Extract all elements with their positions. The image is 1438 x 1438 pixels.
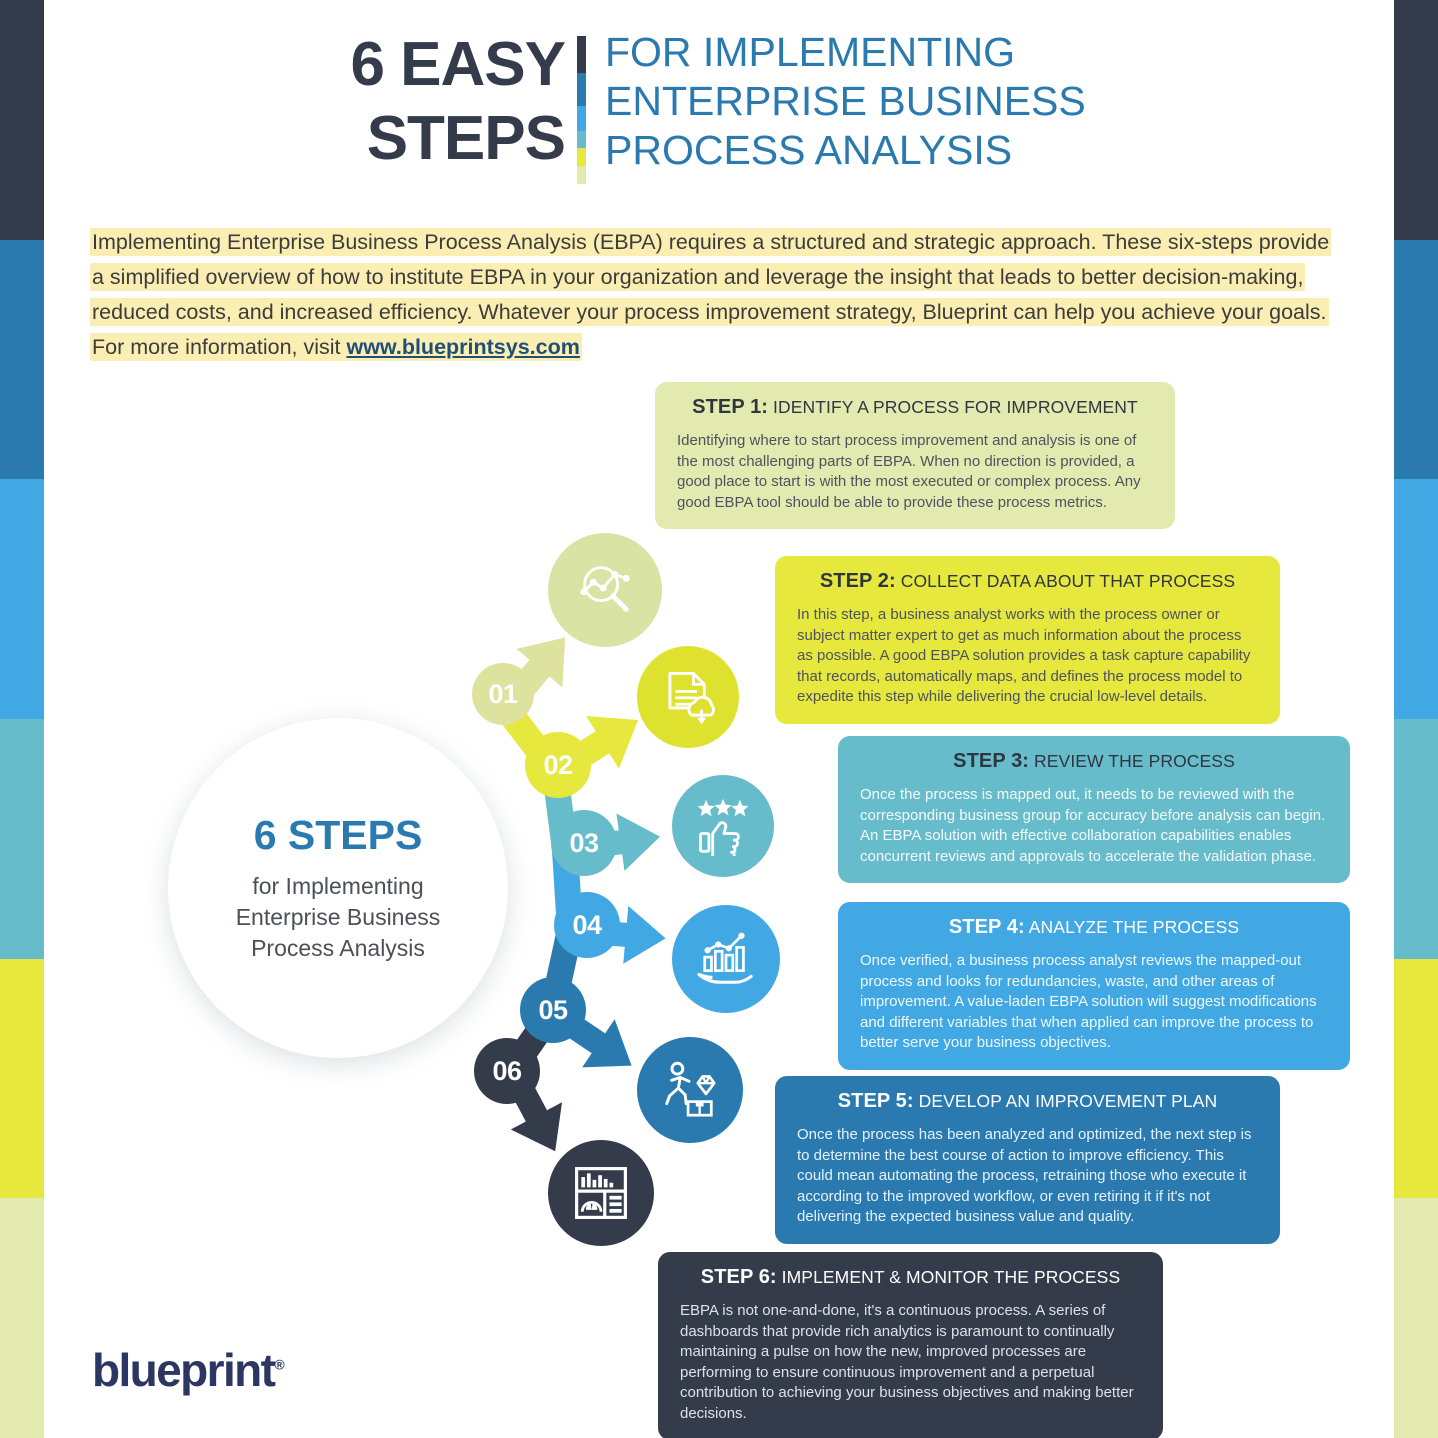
header-title-line1: 6 EASY: [300, 28, 565, 102]
step-card-2-body: In this step, a business analyst works w…: [797, 605, 1258, 708]
step-node-04-label: 04: [572, 910, 601, 941]
step-card-2[interactable]: STEP 2: COLLECT DATA ABOUT THAT PROCESS …: [775, 556, 1280, 724]
step-node-06[interactable]: 06: [474, 1038, 540, 1104]
intro-paragraph: Implementing Enterprise Business Process…: [90, 225, 1345, 365]
band-6: [0, 1198, 44, 1438]
step-card-4-heading: ANALYZE THE PROCESS: [1029, 917, 1239, 937]
page-header: 6 EASY STEPS FOR IMPLEMENTING ENTERPRISE…: [300, 28, 1100, 188]
step-card-5-heading: DEVELOP AN IMPROVEMENT PLAN: [919, 1091, 1218, 1111]
step-card-1[interactable]: STEP 1: IDENTIFY A PROCESS FOR IMPROVEME…: [655, 382, 1175, 529]
hand-chart-growth-icon: [695, 928, 757, 990]
step-card-4-body: Once verified, a business process analys…: [860, 951, 1328, 1054]
band-3: [1394, 479, 1438, 719]
band-4: [0, 719, 44, 959]
step-card-5-label: STEP 5:: [838, 1090, 914, 1112]
intro-text: Implementing Enterprise Business Process…: [92, 230, 1329, 359]
step-card-1-title: STEP 1: IDENTIFY A PROCESS FOR IMPROVEME…: [677, 396, 1153, 419]
hub-headline: 6 STEPS: [254, 812, 423, 859]
step-card-4[interactable]: STEP 4: ANALYZE THE PROCESS Once verifie…: [838, 902, 1350, 1070]
hub-subtitle-line2: Enterprise Business: [236, 902, 441, 933]
right-color-bands: [1394, 0, 1438, 1438]
left-color-bands: [0, 0, 44, 1438]
step-card-2-label: STEP 2:: [820, 570, 896, 592]
step-card-3-heading: REVIEW THE PROCESS: [1034, 751, 1235, 771]
step-node-02-label: 02: [543, 750, 572, 781]
header-title-line2: STEPS: [300, 102, 565, 176]
step-card-4-title: STEP 4: ANALYZE THE PROCESS: [860, 916, 1328, 939]
step-card-1-label: STEP 1:: [692, 396, 768, 418]
step-card-3-title: STEP 3: REVIEW THE PROCESS: [860, 750, 1328, 773]
step-node-03-label: 03: [569, 828, 598, 859]
band-1: [0, 0, 44, 240]
step-node-03[interactable]: 03: [551, 810, 617, 876]
step-card-1-body: Identifying where to start process impro…: [677, 431, 1153, 513]
registered-mark-icon: ®: [274, 1357, 284, 1373]
band-4: [1394, 719, 1438, 959]
step-card-3-body: Once the process is mapped out, it needs…: [860, 785, 1328, 867]
header-divider-bar: [577, 36, 586, 184]
step-card-3-label: STEP 3:: [953, 750, 1029, 772]
step-card-1-heading: IDENTIFY A PROCESS FOR IMPROVEMENT: [773, 397, 1138, 417]
step-card-6-heading: IMPLEMENT & MONITOR THE PROCESS: [782, 1267, 1121, 1287]
step-card-2-title: STEP 2: COLLECT DATA ABOUT THAT PROCESS: [797, 570, 1258, 593]
step-node-06-label: 06: [492, 1056, 521, 1087]
band-3: [0, 479, 44, 719]
band-2: [0, 240, 44, 480]
step-card-5-title: STEP 5: DEVELOP AN IMPROVEMENT PLAN: [797, 1090, 1258, 1113]
band-2: [1394, 240, 1438, 480]
step-card-6-label: STEP 6:: [701, 1266, 777, 1288]
step-card-4-label: STEP 4:: [949, 916, 1025, 938]
step-card-5-body: Once the process has been analyzed and o…: [797, 1125, 1258, 1228]
band-5: [0, 959, 44, 1199]
infographic-page: 6 EASY STEPS FOR IMPLEMENTING ENTERPRISE…: [0, 0, 1438, 1438]
blueprint-logo-text: blueprint: [92, 1344, 274, 1396]
band-1: [1394, 0, 1438, 240]
step-node-04[interactable]: 04: [554, 892, 620, 958]
step-card-6[interactable]: STEP 6: IMPLEMENT & MONITOR THE PROCESS …: [658, 1252, 1163, 1438]
step-node-05[interactable]: 05: [520, 977, 586, 1043]
hub-subtitle-line3: Process Analysis: [236, 933, 441, 964]
thumbs-up-stars-icon: [693, 796, 753, 856]
step-card-2-heading: COLLECT DATA ABOUT THAT PROCESS: [901, 571, 1235, 591]
step-card-6-title: STEP 6: IMPLEMENT & MONITOR THE PROCESS: [680, 1266, 1141, 1289]
header-subtitle-line1: FOR IMPLEMENTING: [605, 28, 1125, 77]
step-node-01-label: 01: [488, 679, 517, 710]
step-card-3[interactable]: STEP 3: REVIEW THE PROCESS Once the proc…: [838, 736, 1350, 883]
step-card-6-body: EBPA is not one-and-done, it's a continu…: [680, 1301, 1141, 1424]
blueprint-website-link[interactable]: www.blueprintsys.com: [346, 335, 579, 359]
band-5: [1394, 959, 1438, 1199]
step-node-02[interactable]: 02: [525, 732, 591, 798]
hub-subtitle: for Implementing Enterprise Business Pro…: [236, 871, 441, 964]
hub-subtitle-line1: for Implementing: [236, 871, 441, 902]
header-title: 6 EASY STEPS: [300, 28, 565, 176]
dashboard-analytics-icon: [571, 1163, 631, 1223]
header-subtitle-line3: PROCESS ANALYSIS: [605, 126, 1125, 175]
header-subtitle: FOR IMPLEMENTING ENTERPRISE BUSINESS PRO…: [605, 28, 1125, 175]
band-6: [1394, 1198, 1438, 1438]
step-node-01[interactable]: 01: [472, 663, 534, 725]
blueprint-logo: blueprint®: [92, 1343, 285, 1397]
step-card-5[interactable]: STEP 5: DEVELOP AN IMPROVEMENT PLAN Once…: [775, 1076, 1280, 1244]
header-subtitle-line2: ENTERPRISE BUSINESS: [605, 77, 1125, 126]
step-node-05-label: 05: [538, 995, 567, 1026]
